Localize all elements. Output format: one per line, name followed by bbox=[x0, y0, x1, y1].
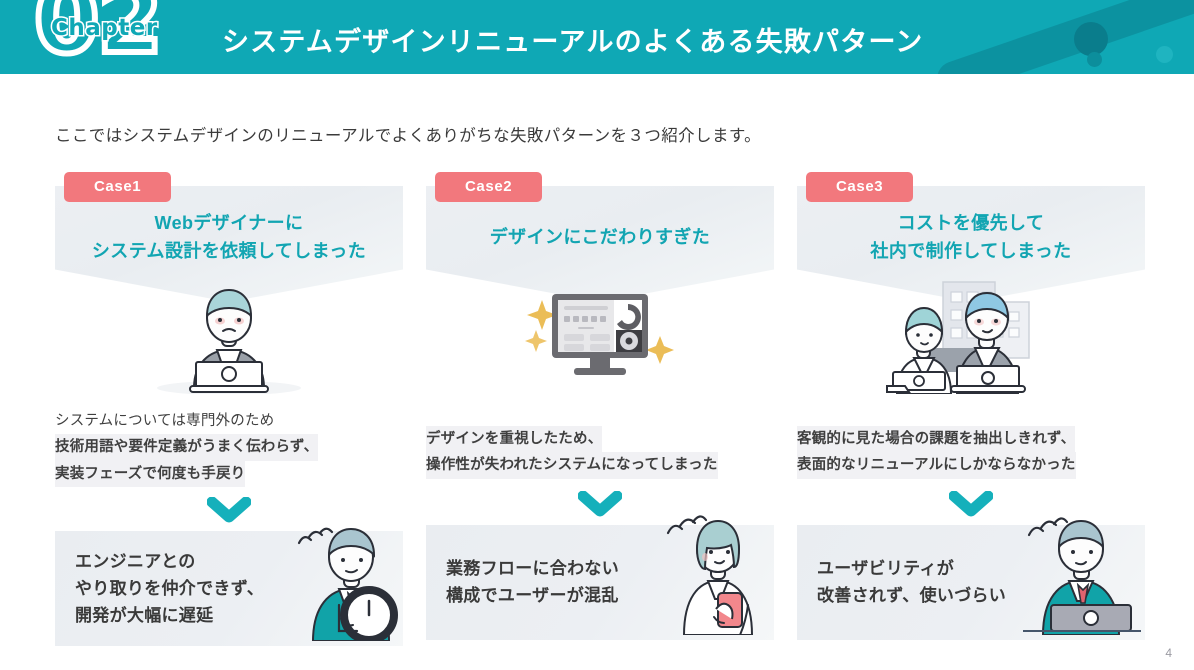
case-result-2-text: 業務フローに合わない 構成でユーザーが混乱 bbox=[446, 555, 619, 609]
case-arrow-1 bbox=[55, 497, 403, 523]
case-heading-1-line1: Webデザイナーに bbox=[155, 213, 304, 233]
lead-paragraph: ここではシステムデザインのリニューアルでよくありがちな失敗パターンを３つ紹介しま… bbox=[55, 122, 761, 146]
case-result-1-line1: エンジニアとの bbox=[75, 552, 196, 571]
chevron-down-icon bbox=[578, 491, 622, 517]
case-result-2: 業務フローに合わない 構成でユーザーが混乱 bbox=[426, 525, 774, 640]
case-heading-2: デザインにこだわりすぎた bbox=[426, 224, 774, 252]
person-at-laptop-icon bbox=[55, 276, 403, 394]
tired-man-at-laptop-icon bbox=[1021, 509, 1143, 640]
case-badge-1: Case1 bbox=[64, 172, 171, 202]
case-card-1: Case1 Webデザイナーに システム設計を依頼してしまった bbox=[55, 172, 403, 404]
case-card-2: Case2 デザインにこだわりすぎた bbox=[426, 172, 774, 404]
case-heading-3-line2: 社内で制作してしまった bbox=[870, 241, 1071, 261]
case-result-1-line3: 開発が大幅に遅延 bbox=[75, 606, 213, 625]
case-description-1-line2: 技術用語や要件定義がうまく伝わらず、 bbox=[55, 434, 318, 460]
case-description-1-line1: システムについては専門外のため bbox=[55, 408, 274, 434]
case-description-3-line1: 客観的に見た場合の課題を抽出しきれず、 bbox=[797, 426, 1075, 452]
case-description-1-line3: 実装フェーズで何度も手戻り bbox=[55, 461, 245, 487]
slide-header: 02 Chapter システムデザインリニューアルのよくある失敗パターン bbox=[0, 0, 1194, 74]
case-heading-2-line1: デザインにこだわりすぎた bbox=[490, 227, 710, 247]
case-heading-1-line2: システム設計を依頼してしまった bbox=[92, 241, 366, 261]
case-badge-2: Case2 bbox=[435, 172, 542, 202]
case-description-2: デザインを重視したため、 操作性が失われたシステムになってしまった bbox=[426, 426, 774, 479]
case-column-2: Case2 デザインにこだわりすぎた bbox=[426, 172, 774, 646]
case-description-3-line2: 表面的なリニューアルにしかならなかった bbox=[797, 452, 1076, 478]
case-heading-3-line1: コストを優先して bbox=[898, 213, 1045, 233]
case-result-3-line1: ユーザビリティが bbox=[817, 559, 954, 578]
header-dot-small-decoration bbox=[1087, 52, 1102, 67]
case-result-2-line2: 構成でユーザーが混乱 bbox=[446, 586, 619, 605]
case-result-3: ユーザビリティが 改善されず、使いづらい bbox=[797, 525, 1145, 640]
case-result-3-line2: 改善されず、使いづらい bbox=[817, 586, 1006, 605]
case-column-1: Case1 Webデザイナーに システム設計を依頼してしまった bbox=[55, 172, 403, 646]
case-result-2-line1: 業務フローに合わない bbox=[446, 559, 619, 578]
chevron-down-icon bbox=[949, 491, 993, 517]
header-stripe-decoration bbox=[933, 0, 1194, 74]
header-dot-medium-decoration bbox=[1156, 46, 1173, 63]
case-description-3: 客観的に見た場合の課題を抽出しきれず、 表面的なリニューアルにしかならなかった bbox=[797, 426, 1145, 479]
case-result-1-text: エンジニアとの やり取りを仲介できず、 開発が大幅に遅延 bbox=[75, 548, 264, 630]
worried-man-with-clock-icon bbox=[283, 523, 401, 646]
case-description-1: システムについては専門外のため 技術用語や要件定義がうまく伝わらず、 実装フェー… bbox=[55, 408, 403, 487]
page-number: 4 bbox=[1165, 646, 1172, 660]
case-badge-3: Case3 bbox=[806, 172, 913, 202]
monitor-with-sparkles-icon bbox=[426, 276, 774, 394]
page-title: システムデザインリニューアルのよくある失敗パターン bbox=[222, 20, 924, 59]
chevron-down-icon bbox=[207, 497, 251, 523]
chapter-label: Chapter bbox=[51, 15, 158, 41]
case-result-1-line2: やり取りを仲介できず、 bbox=[75, 579, 264, 598]
case-card-3: Case3 コストを優先して 社内で制作してしまった bbox=[797, 172, 1145, 404]
confused-woman-with-phone-icon bbox=[660, 513, 772, 640]
case-columns: Case1 Webデザイナーに システム設計を依頼してしまった bbox=[55, 172, 1145, 646]
case-result-1: エンジニアとの やり取りを仲介できず、 開発が大幅に遅延 bbox=[55, 531, 403, 646]
header-dot-large-decoration bbox=[1074, 22, 1108, 56]
case-heading-3: コストを優先して 社内で制作してしまった bbox=[797, 210, 1145, 266]
two-people-with-laptops-office-icon bbox=[797, 276, 1145, 394]
slide: 02 Chapter システムデザインリニューアルのよくある失敗パターン ここで… bbox=[0, 0, 1194, 670]
case-heading-1: Webデザイナーに システム設計を依頼してしまった bbox=[55, 210, 403, 266]
chapter-badge: 02 Chapter bbox=[34, 0, 204, 74]
case-description-2-line2: 操作性が失われたシステムになってしまった bbox=[426, 452, 718, 478]
case-column-3: Case3 コストを優先して 社内で制作してしまった bbox=[797, 172, 1145, 646]
case-description-2-line1: デザインを重視したため、 bbox=[426, 426, 602, 452]
case-result-3-text: ユーザビリティが 改善されず、使いづらい bbox=[817, 555, 1006, 609]
